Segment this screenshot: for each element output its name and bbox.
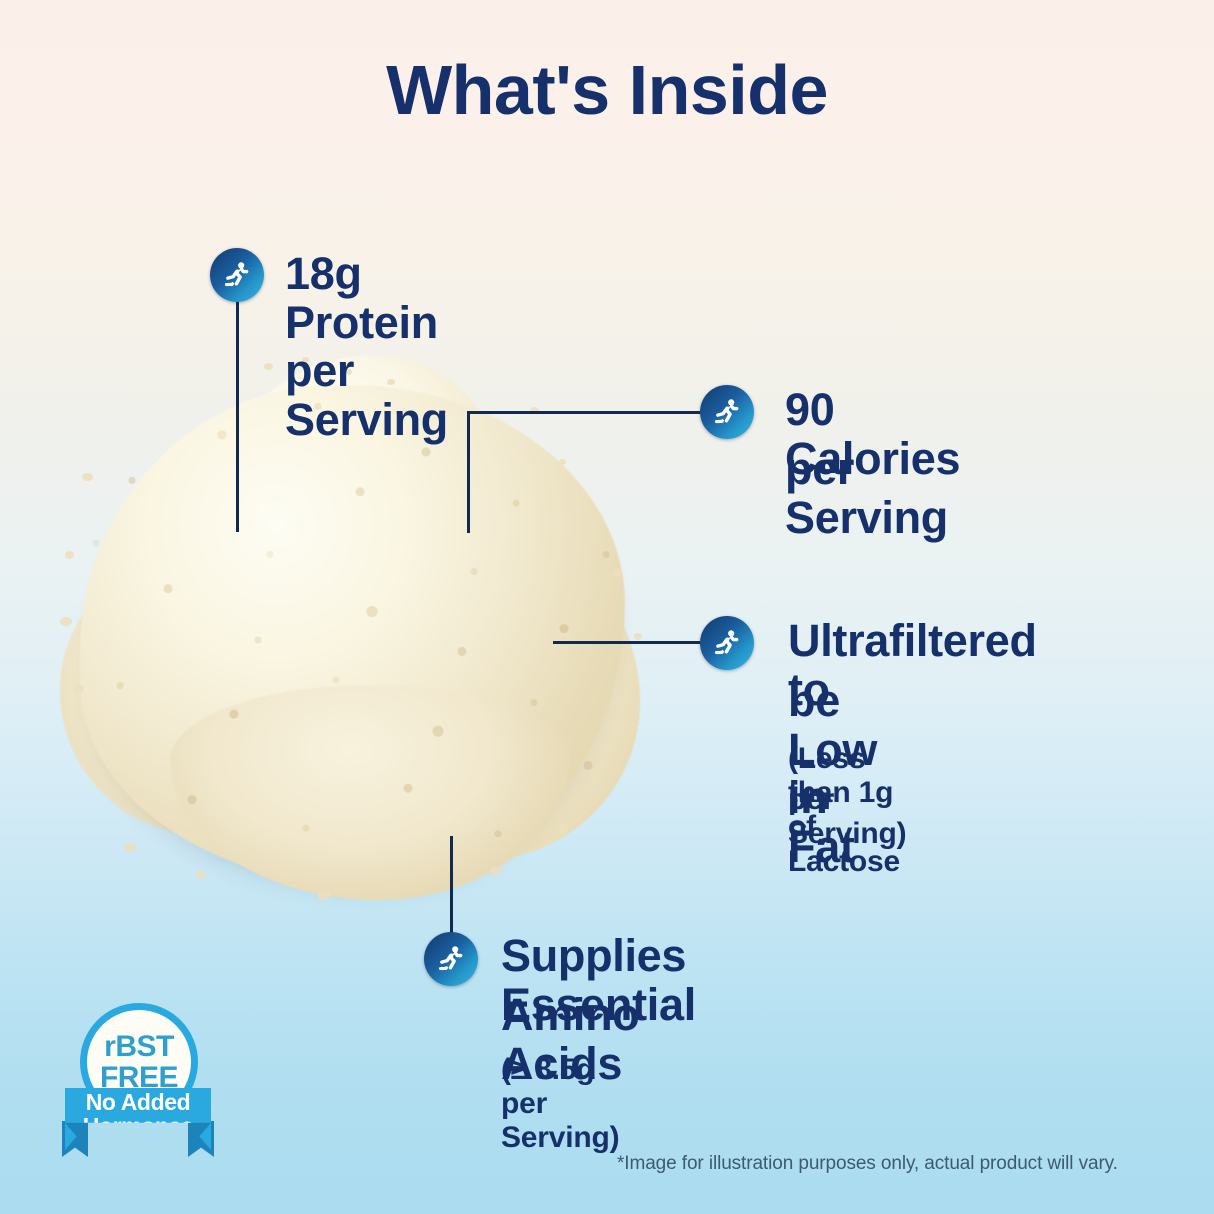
page-title: What's Inside [0,54,1214,128]
powder-fleck [264,363,273,370]
leader-line-protein [236,300,239,532]
leader-line-amino-acids [450,836,453,946]
rbst-free-badge: rBST FREE No Added Hormones [62,1003,214,1169]
powder-fleck [124,843,136,852]
runner-icon [210,248,264,302]
footnote-disclaimer: *Image for illustration purposes only, a… [617,1153,1118,1175]
leader-line-calories-vertical [467,411,470,533]
powder-fleck [65,551,74,559]
ribbon-line-2: Hormones [83,1115,194,1139]
badge-rbst-text: rBST [104,1032,174,1062]
callout-calories-line2: per Serving [785,445,948,542]
callout-ultrafiltered-sub2: per Serving) [788,783,906,851]
powder-fleck [490,867,501,875]
ribbon-line-1: No Added [86,1091,191,1115]
leader-line-ultrafiltered [553,641,705,644]
powder-fleck [82,473,93,481]
infographic-canvas: What's Inside [0,0,1214,1214]
runner-icon [700,616,754,670]
powder-fleck [60,617,72,626]
runner-icon [424,932,478,986]
powder-fleck [559,459,566,465]
runner-icon [700,385,754,439]
powder-fleck [318,891,330,900]
powder-blob-bottom [170,685,570,900]
leader-line-calories-horizontal [467,411,701,414]
powder-fleck [196,871,206,879]
callout-protein-line1: 18g Protein per Serving [285,250,448,444]
callout-amino-acids-sub1: (≥ 8.5g per Serving) [501,1053,619,1156]
powder-fleck [634,633,642,640]
